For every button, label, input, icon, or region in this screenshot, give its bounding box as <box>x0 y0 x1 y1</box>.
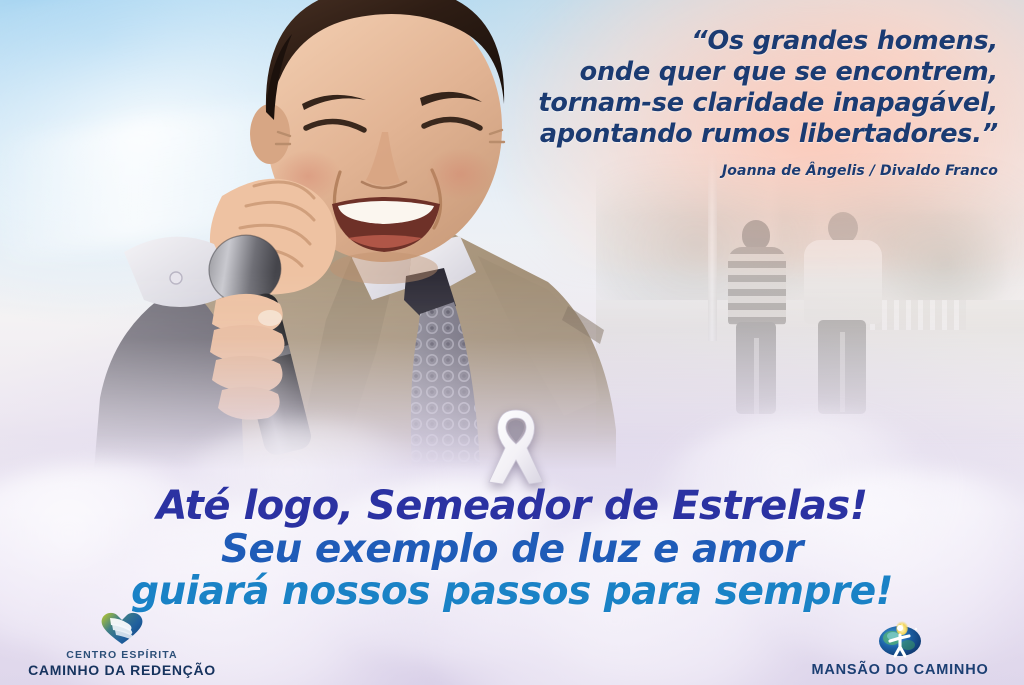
heart-hands-icon <box>99 610 145 646</box>
background-figure-man <box>804 212 882 412</box>
background-photo <box>596 150 1024 450</box>
mourning-ribbon-icon <box>483 404 549 490</box>
headline-line-3: guiará nossos passos para sempre! <box>0 572 1024 613</box>
quote-block: “Os grandes homens, onde quer que se enc… <box>438 26 998 179</box>
globe-figure-icon <box>875 619 925 659</box>
logo-left-line-1: CENTRO ESPÍRITA <box>66 649 177 662</box>
quote-line-1: “Os grandes homens, <box>438 26 998 57</box>
quote-attribution: Joanna de Ângelis / Divaldo Franco <box>438 163 998 179</box>
logo-mansao-do-caminho: MANSÃO DO CAMINHO <box>790 619 1010 679</box>
quote-line-3: tornam-se claridade inapagável, <box>438 88 998 119</box>
memorial-poster: “Os grandes homens, onde quer que se enc… <box>0 0 1024 685</box>
logo-right-line-2: MANSÃO DO CAMINHO <box>811 662 988 679</box>
headline-block: Até logo, Semeador de Estrelas! Seu exem… <box>0 486 1024 613</box>
headline-line-1: Até logo, Semeador de Estrelas! <box>0 486 1024 528</box>
logo-left-line-2: CAMINHO DA REDENÇÃO <box>28 662 216 679</box>
logo-centro-espirita: CENTRO ESPÍRITA CAMINHO DA REDENÇÃO <box>22 610 222 679</box>
headline-line-2: Seu exemplo de luz e amor <box>0 530 1024 571</box>
quote-line-4: apontando rumos libertadores.” <box>438 119 998 150</box>
quote-line-2: onde quer que se encontrem, <box>438 57 998 88</box>
background-figure-boy <box>724 220 788 410</box>
